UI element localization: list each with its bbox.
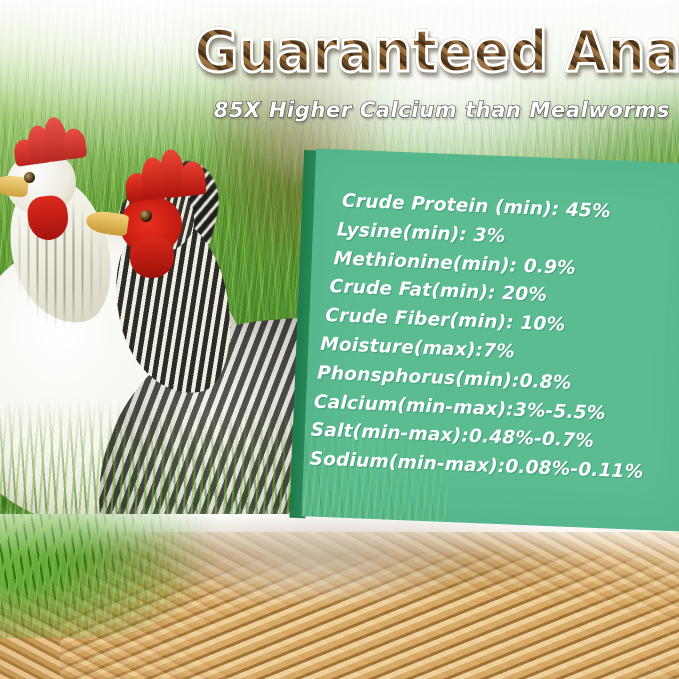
guaranteed-analysis-panel: Crude Protein (min): 45% Lysine(min): 3%…	[289, 128, 679, 539]
product-infographic: Crude Protein (min): 45% Lysine(min): 3%…	[0, 0, 679, 679]
dried-larvae-pile-photo	[0, 514, 679, 679]
larvae-pile-shading	[0, 514, 679, 679]
analysis-list: Crude Protein (min): 45% Lysine(min): 3%…	[309, 187, 679, 490]
